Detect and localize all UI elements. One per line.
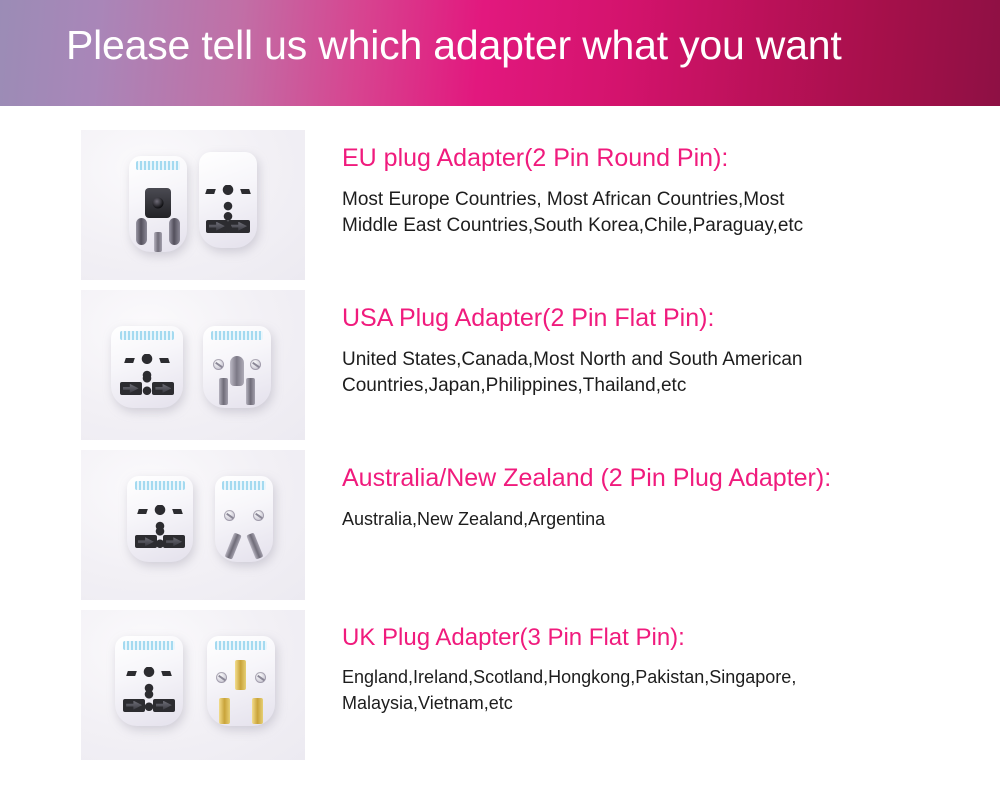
screw-left [216, 672, 227, 683]
socket-slot-left [135, 535, 157, 548]
ground-pin [230, 356, 244, 386]
adapter-title: EU plug Adapter(2 Pin Round Pin): [342, 144, 1000, 174]
socket-slot-left [120, 382, 142, 395]
flat-pin-left [219, 378, 228, 405]
countries-line-1: United States,Canada,Most North and Sout… [342, 347, 962, 374]
adapter-label-band [222, 481, 266, 490]
page-header-banner: Please tell us which adapter what you wa… [0, 0, 1000, 106]
list-item: Australia/New Zealand (2 Pin Plug Adapte… [0, 450, 1000, 600]
photo-backdrop [81, 610, 305, 760]
adapter-socket-unit [111, 326, 183, 408]
adapter-pin-unit [215, 476, 273, 562]
screw-right [253, 510, 264, 521]
screw-left [224, 510, 235, 521]
adapter-socket-unit [199, 152, 257, 248]
adapter-title: USA Plug Adapter(2 Pin Flat Pin): [342, 304, 1000, 334]
adapter-title: Australia/New Zealand (2 Pin Plug Adapte… [342, 464, 1000, 494]
list-item: USA Plug Adapter(2 Pin Flat Pin): United… [0, 290, 1000, 440]
countries-line-2: Middle East Countries,South Korea,Chile,… [342, 213, 962, 240]
adapter-text-block: USA Plug Adapter(2 Pin Flat Pin): United… [305, 290, 1000, 400]
socket-pin-holes [223, 211, 233, 235]
list-item: EU plug Adapter(2 Pin Round Pin): Most E… [0, 130, 1000, 280]
adapter-pin-unit [207, 636, 275, 726]
pin-center [154, 232, 162, 252]
adapter-label-band [136, 161, 180, 170]
round-pin-right [169, 218, 180, 245]
socket-pin-holes [144, 689, 154, 713]
list-item: UK Plug Adapter(3 Pin Flat Pin): England… [0, 610, 1000, 760]
australia-plug-adapter-photo [81, 450, 305, 600]
photo-backdrop [81, 450, 305, 600]
adapter-countries: United States,Canada,Most North and Sout… [342, 347, 962, 401]
adapter-list: EU plug Adapter(2 Pin Round Pin): Most E… [0, 106, 1000, 760]
countries-line-2: Malaysia,Vietnam,etc [342, 691, 962, 717]
countries-line-1: Most Europe Countries, Most African Coun… [342, 187, 962, 214]
page-title: Please tell us which adapter what you wa… [66, 22, 842, 69]
screw-left [213, 359, 224, 370]
countries-line-2: Countries,Japan,Philippines,Thailand,etc [342, 373, 962, 400]
adapter-socket-unit [127, 476, 193, 562]
brass-pin-left [219, 698, 230, 724]
uk-plug-adapter-photo [81, 610, 305, 760]
adapter-label-band [135, 481, 185, 490]
adapter-text-block: EU plug Adapter(2 Pin Round Pin): Most E… [305, 130, 1000, 240]
adapter-countries: Most Europe Countries, Most African Coun… [342, 187, 962, 241]
adapter-label-band [211, 331, 263, 340]
adapter-label-band [123, 641, 175, 650]
socket-slot-right [153, 699, 175, 712]
adapter-countries: Australia,New Zealand,Argentina [342, 507, 962, 533]
adapter-label-band [215, 641, 267, 650]
screw-right [250, 359, 261, 370]
socket-slot-right [163, 535, 185, 548]
adapter-label-band [120, 331, 175, 340]
adapter-earth-contact [145, 188, 171, 218]
photo-backdrop [81, 290, 305, 440]
adapter-title: UK Plug Adapter(3 Pin Flat Pin): [342, 624, 1000, 652]
adapter-front-unit [129, 156, 187, 252]
adapter-countries: England,Ireland,Scotland,Hongkong,Pakist… [342, 665, 962, 716]
countries-line-1: England,Ireland,Scotland,Hongkong,Pakist… [342, 665, 962, 691]
adapter-pin-unit [203, 326, 271, 408]
round-pin-left [136, 218, 147, 245]
adapter-text-block: Australia/New Zealand (2 Pin Plug Adapte… [305, 450, 1000, 532]
socket-pin-holes [142, 373, 152, 397]
socket-slot-left [123, 699, 145, 712]
screw-right [255, 672, 266, 683]
photo-backdrop [81, 130, 305, 280]
socket-pin-holes [155, 526, 165, 550]
brass-pin-right [252, 698, 263, 724]
countries-line-1: Australia,New Zealand,Argentina [342, 507, 962, 533]
earth-pin-top [235, 660, 246, 690]
eu-plug-adapter-photo [81, 130, 305, 280]
adapter-socket-unit [115, 636, 183, 726]
usa-plug-adapter-photo [81, 290, 305, 440]
adapter-text-block: UK Plug Adapter(3 Pin Flat Pin): England… [305, 610, 1000, 716]
socket-slot-right [152, 382, 174, 395]
flat-pin-right [246, 378, 255, 405]
